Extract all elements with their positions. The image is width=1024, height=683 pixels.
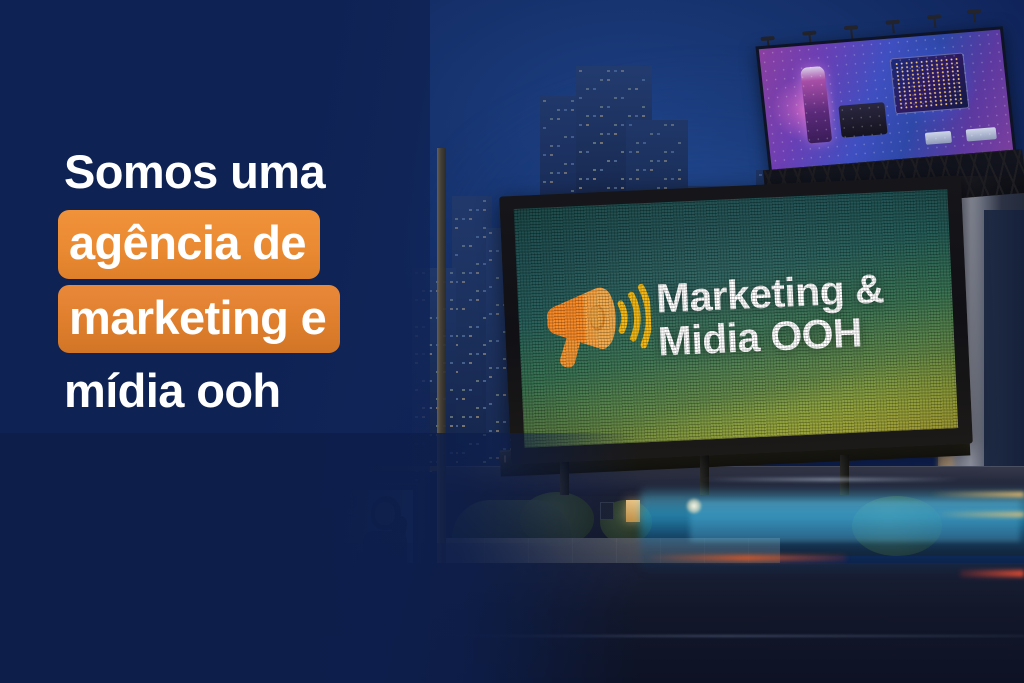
product-keyboard-graphic <box>966 127 997 141</box>
headline-line-4: mídia ooh <box>58 359 458 423</box>
secondary-billboard[interactable] <box>755 26 1016 174</box>
headline-row-3: marketing e <box>58 285 458 353</box>
headlight-glow <box>686 498 702 514</box>
megaphone-icon <box>530 261 653 384</box>
motion-streak-amber-2 <box>935 512 1024 517</box>
main-billboard[interactable]: Marketing & Midia OOH <box>499 176 973 465</box>
bottom-left-gradient-overlay <box>0 433 640 683</box>
headline-row-4: mídia ooh <box>58 359 458 423</box>
hero-banner: Marketing & Midia OOH <box>0 0 1024 683</box>
motion-streak-amber <box>930 492 1024 497</box>
product-box-graphic <box>838 103 887 139</box>
billboard-line-2: Midia OOH <box>657 310 887 363</box>
headline-row-2: agência de <box>58 210 458 278</box>
headline-row-1: Somos uma <box>58 140 458 204</box>
headline-line-3: marketing e <box>58 285 340 353</box>
headline-line-1: Somos uma <box>58 140 458 204</box>
headline-block: Somos uma agência de marketing e mídia o… <box>58 140 458 429</box>
taillight-streak <box>646 555 846 561</box>
taillight-streak-2 <box>960 570 1024 577</box>
main-billboard-screen: Marketing & Midia OOH <box>514 189 958 447</box>
motion-streak-white <box>700 478 960 481</box>
product-keyboard-graphic-2 <box>924 130 951 144</box>
main-billboard-frame: Marketing & Midia OOH <box>499 176 973 465</box>
secondary-billboard-screen <box>759 29 1013 170</box>
product-bottle-graphic <box>800 66 832 144</box>
headline-line-2: agência de <box>58 210 320 278</box>
product-monitor-graphic <box>890 52 970 114</box>
motion-blur-bus-windows <box>690 500 1020 540</box>
main-billboard-text: Marketing & Midia OOH <box>655 268 887 363</box>
